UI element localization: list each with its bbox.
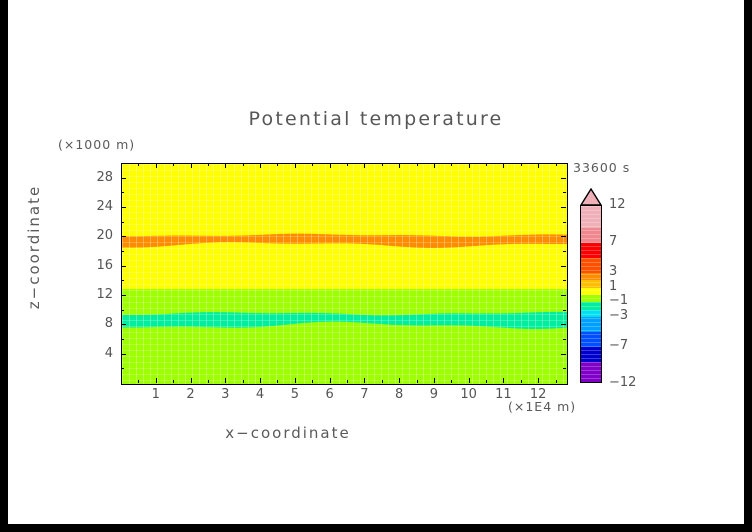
x-tick	[434, 378, 435, 383]
x-tick	[225, 378, 226, 383]
x-tick	[399, 163, 400, 168]
y-minor-tick	[563, 339, 566, 340]
x-tick-label: 8	[384, 387, 414, 402]
y-tick-label: 28	[83, 170, 113, 185]
colorbar-arrow-cap	[580, 188, 602, 206]
colorbar-band	[581, 310, 601, 317]
y-tick-label: 8	[83, 316, 113, 331]
colorbar	[580, 205, 602, 383]
x-minor-tick	[451, 163, 452, 166]
y-tick	[121, 207, 126, 208]
colorbar-band	[581, 228, 601, 243]
y-tick	[121, 236, 126, 237]
colorbar-band	[581, 362, 601, 383]
y-minor-tick	[563, 310, 566, 311]
x-minor-tick	[486, 380, 487, 383]
y-tick	[121, 354, 126, 355]
colorbar-tick-label: −3	[609, 308, 628, 323]
x-tick	[503, 163, 504, 168]
colorbar-band	[581, 288, 601, 295]
x-minor-tick	[382, 163, 383, 166]
x-tick-label: 10	[454, 387, 484, 402]
x-minor-tick	[486, 163, 487, 166]
x-tick-label: 2	[176, 387, 206, 402]
y-minor-tick	[121, 339, 124, 340]
y-tick	[561, 207, 566, 208]
colorbar-band	[581, 206, 601, 228]
y-tick	[561, 324, 566, 325]
x-minor-tick	[312, 163, 313, 166]
colorbar-band	[581, 302, 601, 309]
y-tick	[561, 266, 566, 267]
y-minor-tick	[563, 251, 566, 252]
colorbar-band	[581, 295, 601, 302]
x-minor-tick	[277, 380, 278, 383]
y-minor-tick	[563, 368, 566, 369]
contour-plot-area	[121, 163, 568, 385]
layer-cyan	[122, 164, 567, 384]
x-minor-tick	[521, 380, 522, 383]
y-tick-label: 16	[83, 258, 113, 273]
y-tick	[121, 324, 126, 325]
x-tick	[330, 163, 331, 168]
x-minor-tick	[243, 380, 244, 383]
y-minor-tick	[121, 280, 124, 281]
x-tick-label: 9	[419, 387, 449, 402]
colorbar-band	[581, 258, 601, 273]
y-tick	[561, 295, 566, 296]
y-tick-label: 12	[83, 287, 113, 302]
y-axis-unit: (×1000 m)	[58, 137, 135, 152]
y-tick	[121, 178, 126, 179]
x-minor-tick	[138, 380, 139, 383]
colorbar-band	[581, 317, 601, 332]
y-minor-tick	[121, 251, 124, 252]
x-tick-label: 7	[349, 387, 379, 402]
x-tick	[295, 378, 296, 383]
x-tick-label: 4	[245, 387, 275, 402]
colorbar-band	[581, 347, 601, 362]
y-tick	[121, 295, 126, 296]
x-minor-tick	[312, 380, 313, 383]
y-tick	[561, 354, 566, 355]
timestamp-annotation: 33600 s	[573, 160, 630, 175]
x-minor-tick	[173, 380, 174, 383]
y-tick	[561, 236, 566, 237]
x-tick	[399, 378, 400, 383]
y-minor-tick	[563, 280, 566, 281]
colorbar-band	[581, 243, 601, 258]
x-minor-tick	[208, 380, 209, 383]
x-minor-tick	[138, 163, 139, 166]
y-tick-label: 20	[83, 228, 113, 243]
x-tick	[434, 163, 435, 168]
y-minor-tick	[121, 192, 124, 193]
colorbar-band	[581, 280, 601, 287]
x-tick	[156, 378, 157, 383]
colorbar-tick-label: −1	[609, 293, 628, 308]
x-axis-label: x−coordinate	[8, 424, 568, 442]
colorbar-tick-label: −7	[609, 338, 628, 353]
colorbar-tick-label: 12	[609, 197, 626, 212]
y-minor-tick	[563, 222, 566, 223]
x-tick	[191, 378, 192, 383]
y-minor-tick	[563, 192, 566, 193]
x-tick	[225, 163, 226, 168]
x-tick	[364, 163, 365, 168]
x-minor-tick	[451, 380, 452, 383]
x-minor-tick	[173, 163, 174, 166]
x-tick	[156, 163, 157, 168]
x-minor-tick	[243, 163, 244, 166]
x-tick-label: 1	[141, 387, 171, 402]
x-minor-tick	[382, 380, 383, 383]
x-tick-label: 5	[280, 387, 310, 402]
x-tick-label: 12	[523, 387, 553, 402]
y-minor-tick	[121, 310, 124, 311]
colorbar-tick-label: 3	[609, 264, 617, 279]
colorbar-tick-label: 7	[609, 234, 617, 249]
x-tick	[295, 163, 296, 168]
chart-title: Potential temperature	[8, 108, 744, 130]
x-minor-tick	[208, 163, 209, 166]
x-tick	[364, 378, 365, 383]
x-minor-tick	[521, 163, 522, 166]
x-tick	[538, 163, 539, 168]
x-tick-label: 6	[315, 387, 345, 402]
x-tick	[191, 163, 192, 168]
y-minor-tick	[121, 368, 124, 369]
x-minor-tick	[347, 163, 348, 166]
y-tick-label: 24	[83, 199, 113, 214]
y-tick-label: 4	[83, 346, 113, 361]
x-minor-tick	[417, 163, 418, 166]
x-minor-tick	[347, 380, 348, 383]
colorbar-band	[581, 332, 601, 347]
x-tick	[538, 378, 539, 383]
temperature-field	[122, 164, 567, 384]
y-axis-label: z−coordinate	[25, 177, 43, 317]
x-minor-tick	[277, 163, 278, 166]
x-minor-tick	[556, 163, 557, 166]
colorbar-band	[581, 273, 601, 280]
figure-canvas: Potential temperature (×1000 m) (×1E4 m)…	[8, 0, 744, 524]
x-tick-label: 11	[488, 387, 518, 402]
x-tick	[469, 163, 470, 168]
y-tick	[561, 178, 566, 179]
x-minor-tick	[417, 380, 418, 383]
x-tick	[330, 378, 331, 383]
x-tick	[260, 163, 261, 168]
x-minor-tick	[556, 380, 557, 383]
x-tick	[469, 378, 470, 383]
x-tick	[260, 378, 261, 383]
colorbar-tick-label: 1	[609, 279, 617, 294]
colorbar-tick-label: −12	[609, 375, 636, 390]
x-tick-label: 3	[210, 387, 240, 402]
x-tick	[503, 378, 504, 383]
y-tick	[121, 266, 126, 267]
y-minor-tick	[121, 222, 124, 223]
